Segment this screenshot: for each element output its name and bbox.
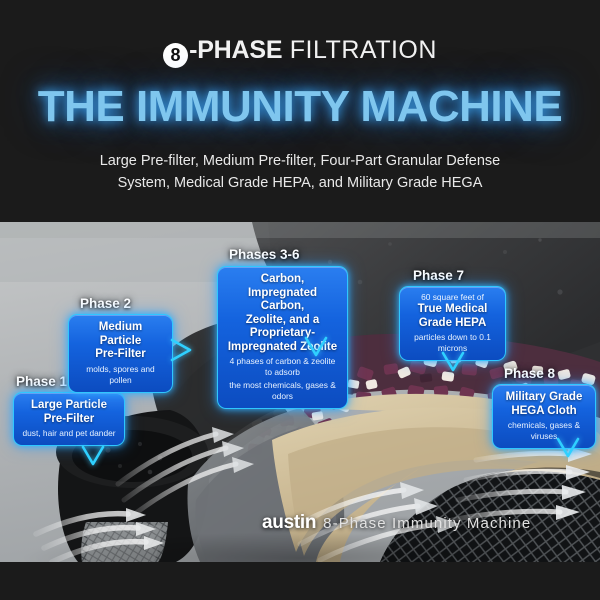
kicker-light-text [282,36,289,64]
phase-2-title-line-2: Pre-Filter [77,348,164,362]
infographic-root: 8-PHASE FILTRATION THE IMMUNITY MACHINE … [0,0,600,600]
phase-2-label: Phase 2 [80,296,131,311]
phase-8-label: Phase 8 [504,366,555,381]
phase-2-callout[interactable]: Medium Particle Pre-Filter molds, spores… [68,314,173,393]
phases-3-6-subtext-line-1: 4 phases of carbon & zeolite to adsorb [226,356,339,378]
phase-1-title-line-1: Large Particle [22,399,116,413]
kicker-bold-text: -PHASE [189,36,282,64]
phases-3-6-title-line-1: Carbon, Impregnated Carbon, [226,273,339,314]
phase-7-subtext: particles down to 0.1 microns [406,332,499,354]
phase-8-subtext: chemicals, gases & viruses [501,420,587,442]
phase-2-title-line-1: Medium Particle [77,321,164,348]
brand-lockup: austin8-Phase Immunity Machine [262,512,531,534]
subtitle: Large Pre-filter, Medium Pre-filter, Fou… [60,150,540,194]
brand-name: austin [262,512,316,533]
phase-1-label: Phase 1 [16,374,67,389]
header-band: 8-PHASE FILTRATION THE IMMUNITY MACHINE … [0,0,600,222]
phases-3-6-title-line-3: Impregnated Zeolite [226,341,339,355]
page-title: THE IMMUNITY MACHINE [0,82,600,132]
phase-7-label: Phase 7 [413,268,464,283]
phase-7-callout[interactable]: 60 square feet of True Medical Grade HEP… [399,286,506,361]
phases-3-6-label: Phases 3-6 [229,247,300,262]
kicker-filtration-text: FILTRATION [290,36,437,64]
phases-3-6-callout[interactable]: Carbon, Impregnated Carbon, Zeolite, and… [217,266,348,409]
phase-7-title-line-1: True Medical [406,303,499,317]
product-model-name: 8-Phase Immunity Machine [323,515,531,532]
phase-1-callout[interactable]: Large Particle Pre-Filter dust, hair and… [13,392,125,446]
phase-1-title-line-2: Pre-Filter [22,413,116,427]
phase-8-title-line-1: Military Grade [501,391,587,405]
phase-7-title-line-2: Grade HEPA [406,317,499,331]
phase-8-title-line-2: HEGA Cloth [501,405,587,419]
phases-3-6-title-line-2: Zeolite, and a Proprietary- [226,314,339,341]
subtitle-line-2: System, Medical Grade HEPA, and Military… [60,172,540,194]
phases-3-6-subtext-line-2: the most chemicals, gases & odors [226,380,339,402]
phase-8-callout[interactable]: Military Grade HEGA Cloth chemicals, gas… [492,384,596,449]
kicker-line: 8-PHASE FILTRATION [0,36,600,68]
phase-2-subtext: molds, spores and pollen [77,364,164,386]
subtitle-line-1: Large Pre-filter, Medium Pre-filter, Fou… [60,150,540,172]
eight-badge-icon: 8 [163,43,188,68]
phase-1-subtext: dust, hair and pet dander [22,428,116,439]
phase-7-pretext: 60 square feet of [406,292,499,302]
